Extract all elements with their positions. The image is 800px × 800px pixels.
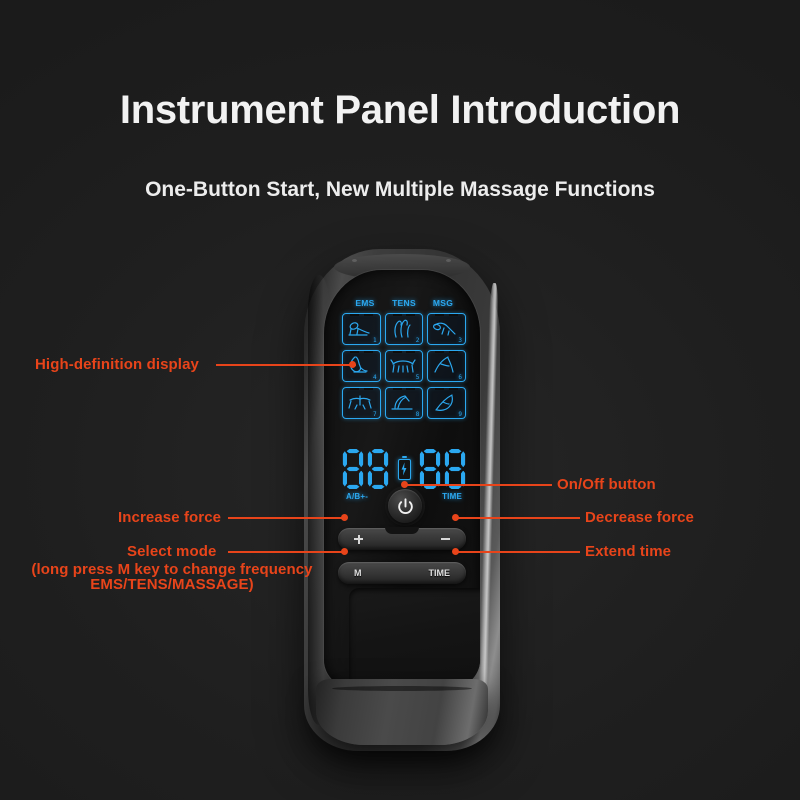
mode-time-bar[interactable]: M TIME (338, 562, 466, 584)
program-icon-number: 9 (458, 411, 462, 418)
leader-line-extend-time (456, 551, 580, 553)
top-seam-dot (446, 259, 451, 262)
program-icon-number: 1 (373, 337, 377, 344)
power-button[interactable] (388, 489, 422, 523)
lcd-mode-headings: EMS TENS MSG (342, 298, 466, 308)
leader-line-select-mode (228, 551, 346, 553)
slide-canvas: Instrument Panel Introduction One-Button… (0, 0, 800, 800)
annotation-extend-time: Extend time (585, 543, 671, 560)
readout-left-value (342, 449, 389, 489)
device-base-seam (332, 686, 472, 691)
program-icon-grid: 1 2 (342, 313, 466, 419)
page-subtitle: One-Button Start, New Multiple Massage F… (0, 178, 800, 202)
readout-right-value (419, 449, 466, 489)
program-icon-number: 8 (416, 411, 420, 418)
seven-segment-digit (367, 449, 389, 489)
seven-segment-digit (419, 449, 441, 489)
plus-icon[interactable] (354, 538, 363, 540)
program-icon-2: 2 (385, 313, 424, 345)
program-icon-number: 6 (458, 374, 462, 381)
leader-dot-extend-time (452, 548, 459, 555)
minus-icon[interactable] (441, 538, 450, 540)
annotation-increase-force: Increase force (118, 509, 221, 526)
program-icon-8: 8 (385, 387, 424, 419)
device-face: EMS TENS MSG 1 (324, 270, 480, 690)
leader-dot-select-mode (341, 548, 348, 555)
power-icon (396, 497, 415, 516)
program-icon-number: 7 (373, 411, 377, 418)
seven-segment-digit (342, 449, 364, 489)
leader-line-decrease-force (456, 517, 580, 519)
program-icon-number: 2 (416, 337, 420, 344)
top-seam-dot (352, 259, 357, 262)
program-icon-number: 4 (373, 374, 377, 381)
force-adjust-bar[interactable] (338, 528, 466, 550)
program-icon-1: 1 (342, 313, 381, 345)
leader-dot-display (349, 361, 356, 368)
program-icon-number: 5 (416, 374, 420, 381)
mode-heading-msg: MSG (426, 298, 460, 308)
leader-dot-decrease-force (452, 514, 459, 521)
annotation-onoff: On/Off button (557, 476, 656, 493)
program-icon-4: 4 (342, 350, 381, 382)
annotation-select-mode: Select mode (127, 543, 216, 560)
time-button-label[interactable]: TIME (429, 568, 451, 578)
readout-label-time: TIME (442, 492, 462, 501)
program-icon-5: 5 (385, 350, 424, 382)
massage-device: EMS TENS MSG 1 (304, 249, 500, 751)
program-icon-9: 9 (427, 387, 466, 419)
program-icon-7: 7 (342, 387, 381, 419)
bar-notch (385, 527, 419, 534)
mode-heading-ems: EMS (348, 298, 382, 308)
annotation-display: High-definition display (35, 356, 199, 373)
device-lower-panel (349, 588, 480, 690)
readout-label-ab: A/B+- (346, 492, 368, 501)
program-icon-number: 3 (458, 337, 462, 344)
annotation-decrease-force: Decrease force (585, 509, 694, 526)
mode-button-label[interactable]: M (354, 568, 362, 578)
battery-charging-icon (398, 459, 411, 480)
seven-segment-digit (444, 449, 466, 489)
page-title: Instrument Panel Introduction (0, 88, 800, 133)
leader-dot-increase-force (341, 514, 348, 521)
leader-dot-onoff (401, 481, 408, 488)
leader-line-onoff (404, 484, 552, 486)
leader-line-display (216, 364, 356, 366)
program-icon-6: 6 (427, 350, 466, 382)
program-icon-3: 3 (427, 313, 466, 345)
mode-heading-tens: TENS (387, 298, 421, 308)
annotation-select-mode-note-line2: EMS/TENS/MASSAGE) (14, 576, 330, 593)
leader-line-increase-force (228, 517, 346, 519)
